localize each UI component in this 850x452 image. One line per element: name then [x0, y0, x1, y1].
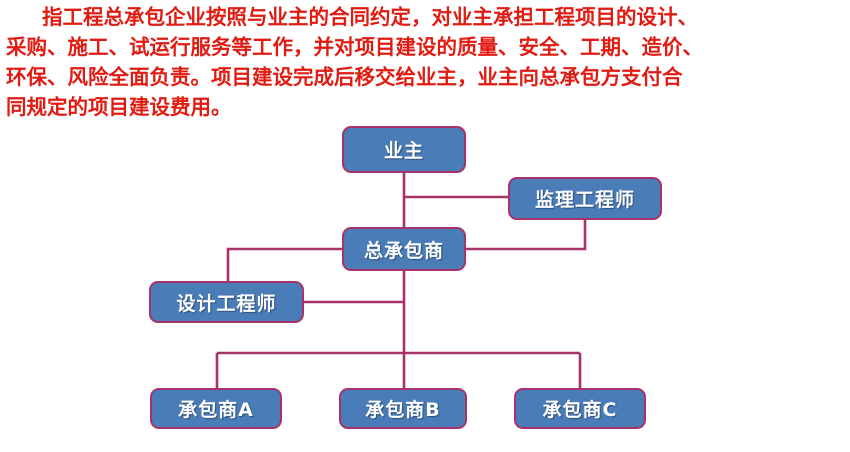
- edge-general-to-designer: [228, 249, 342, 281]
- node-design-engineer-label: 设计工程师: [176, 289, 276, 316]
- node-design-engineer[interactable]: 设计工程师: [149, 281, 304, 323]
- node-contractor-a[interactable]: 承包商A: [150, 388, 282, 429]
- node-contractor-b[interactable]: 承包商B: [339, 388, 467, 429]
- node-supervision-engineer-label: 监理工程师: [535, 185, 635, 212]
- node-contractor-c-label: 承包商C: [543, 395, 618, 422]
- edge-supervisor-to-general: [466, 220, 585, 249]
- node-owner[interactable]: 业主: [342, 126, 466, 173]
- org-chart-diagram: 业主 监理工程师 总承包商 设计工程师 承包商A 承包商B 承包商C: [0, 0, 850, 452]
- node-general-contractor[interactable]: 总承包商: [342, 227, 466, 271]
- node-contractor-a-label: 承包商A: [178, 395, 254, 422]
- node-contractor-c[interactable]: 承包商C: [514, 388, 646, 429]
- connector-lines: [0, 0, 850, 452]
- node-general-contractor-label: 总承包商: [364, 236, 444, 263]
- node-contractor-b-label: 承包商B: [365, 395, 440, 422]
- node-owner-label: 业主: [384, 136, 424, 163]
- slide-canvas: 指工程总承包企业按照与业主的合同约定，对业主承担工程项目的设计、 采购、施工、试…: [0, 0, 850, 452]
- node-supervision-engineer[interactable]: 监理工程师: [508, 177, 662, 220]
